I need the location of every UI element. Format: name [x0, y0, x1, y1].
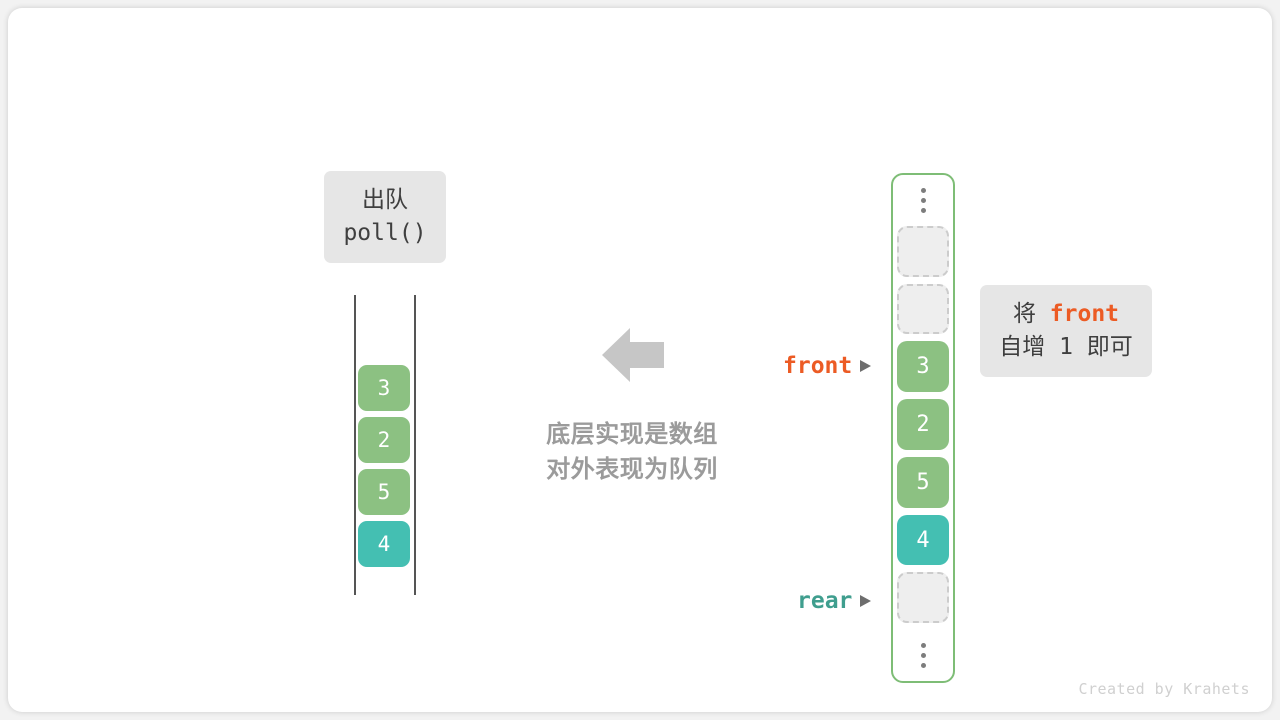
rear-pointer-text: rear [797, 588, 852, 614]
front-pointer-label: front [783, 353, 871, 379]
hint-line2: 自增 1 即可 [999, 331, 1133, 364]
queue-cell-list: 3 2 5 4 [358, 365, 410, 573]
front-pointer-arrow-icon [860, 360, 871, 372]
front-pointer-text: front [783, 353, 852, 379]
queue-cell: 3 [358, 365, 410, 411]
queue-cell: 2 [358, 417, 410, 463]
caption-line2: 对外表现为队列 [512, 453, 752, 488]
array-cell: 2 [897, 399, 949, 450]
queue-rail-left [354, 295, 356, 595]
bottom-ellipsis-icon [921, 630, 926, 681]
array-container: 3 2 5 4 [891, 173, 955, 683]
array-cell: 4 [897, 515, 949, 566]
credit-text: Created by Krahets [1078, 680, 1250, 698]
hint-prefix: 将 [1013, 301, 1036, 327]
array-cell-empty [897, 284, 949, 335]
array-cell: 3 [897, 341, 949, 392]
operation-label-line1: 出队 [362, 184, 408, 217]
top-ellipsis-icon [921, 175, 926, 226]
left-arrow-icon [602, 328, 664, 382]
queue-cell: 5 [358, 469, 410, 515]
screenshot-canvas: 出队 poll() 将 front 自增 1 即可 底层实现是数组 对外表现为队… [0, 0, 1280, 720]
queue-rail-right [414, 295, 416, 595]
hint-label-box: 将 front 自增 1 即可 [980, 285, 1152, 377]
center-caption: 底层实现是数组 对外表现为队列 [512, 418, 752, 488]
rear-pointer-arrow-icon [860, 595, 871, 607]
operation-label-box: 出队 poll() [324, 171, 446, 263]
array-cell-empty [897, 226, 949, 277]
hint-keyword-front: front [1050, 301, 1119, 327]
array-cell-empty [897, 572, 949, 623]
diagram-card: 出队 poll() 将 front 自增 1 即可 底层实现是数组 对外表现为队… [8, 8, 1272, 712]
hint-line1: 将 front [1013, 298, 1119, 331]
operation-label-line2: poll() [343, 217, 426, 250]
rear-pointer-label: rear [797, 588, 871, 614]
queue-cell: 4 [358, 521, 410, 567]
array-cell: 5 [897, 457, 949, 508]
caption-line1: 底层实现是数组 [512, 418, 752, 453]
